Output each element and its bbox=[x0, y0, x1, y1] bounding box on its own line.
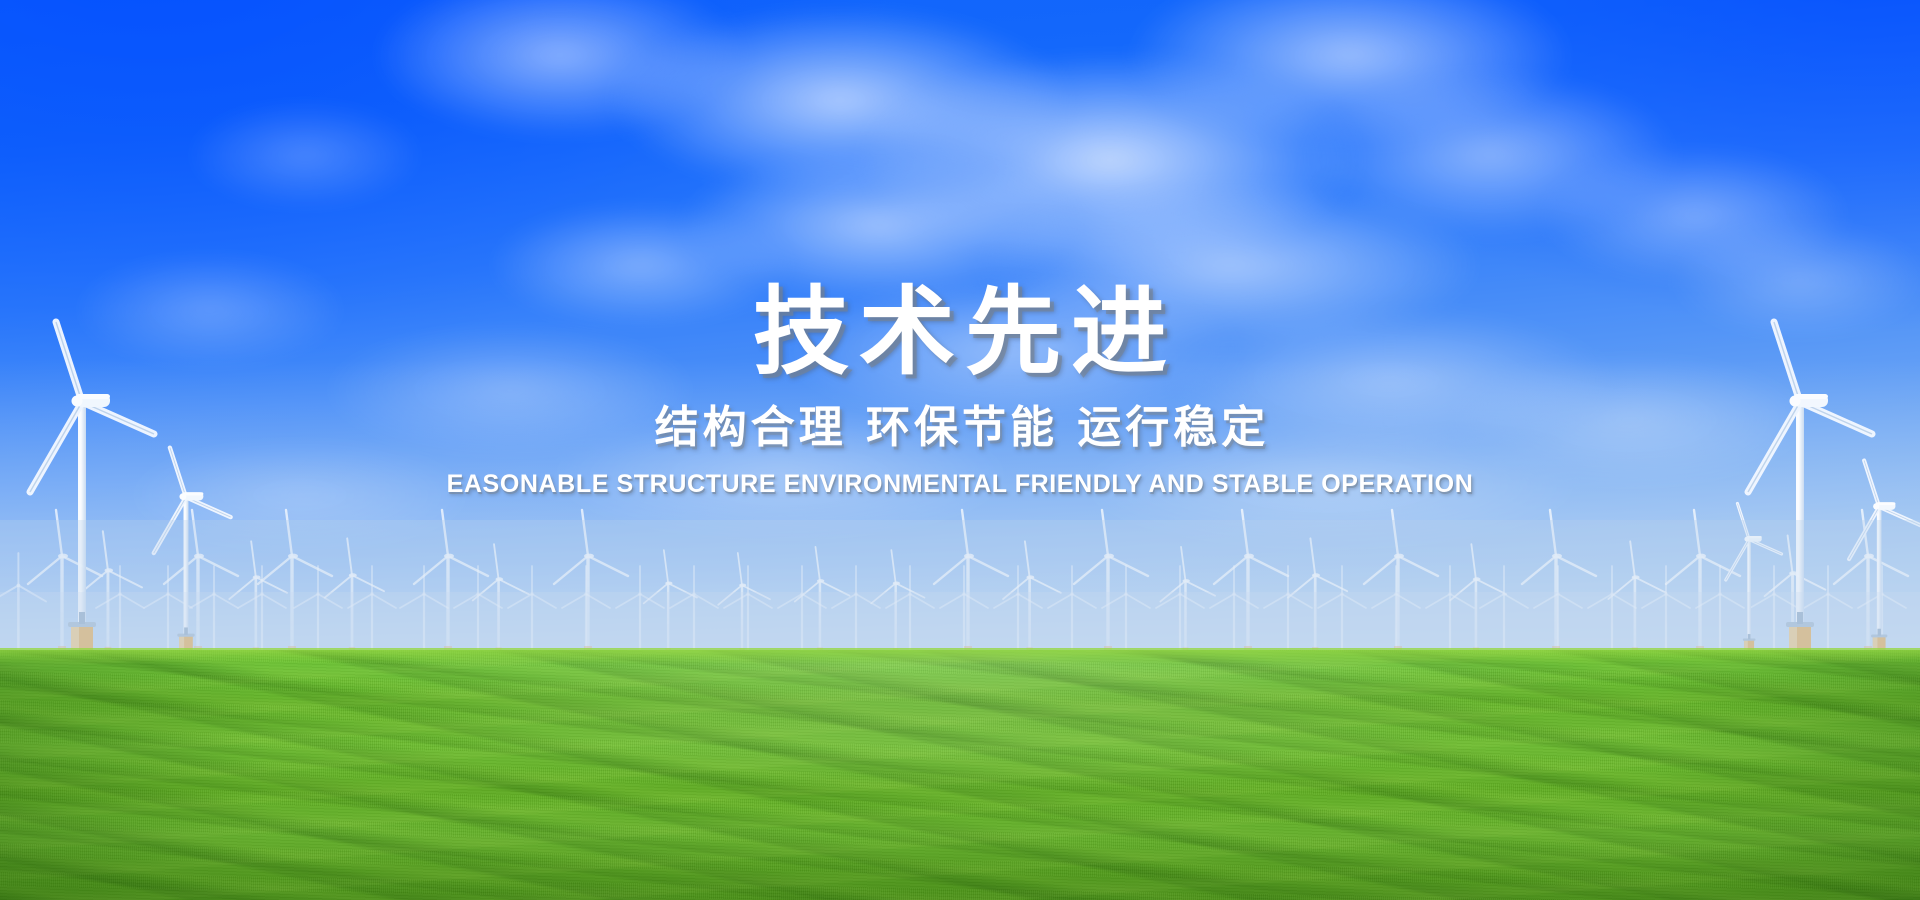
banner-subheadline: 结构合理 环保节能 运行稳定 bbox=[0, 402, 1920, 454]
grass-horizon-crest bbox=[0, 648, 1920, 664]
banner-tagline: EASONABLE STRUCTURE ENVIRONMENTAL FRIEND… bbox=[0, 470, 1920, 499]
grass-shading-layer bbox=[0, 650, 1920, 900]
banner-copy: 技术先进 结构合理 环保节能 运行稳定 EASONABLE STRUCTURE … bbox=[0, 282, 1920, 499]
hero-banner: 技术先进 结构合理 环保节能 运行稳定 EASONABLE STRUCTURE … bbox=[0, 0, 1920, 900]
banner-headline: 技术先进 bbox=[0, 282, 1920, 384]
